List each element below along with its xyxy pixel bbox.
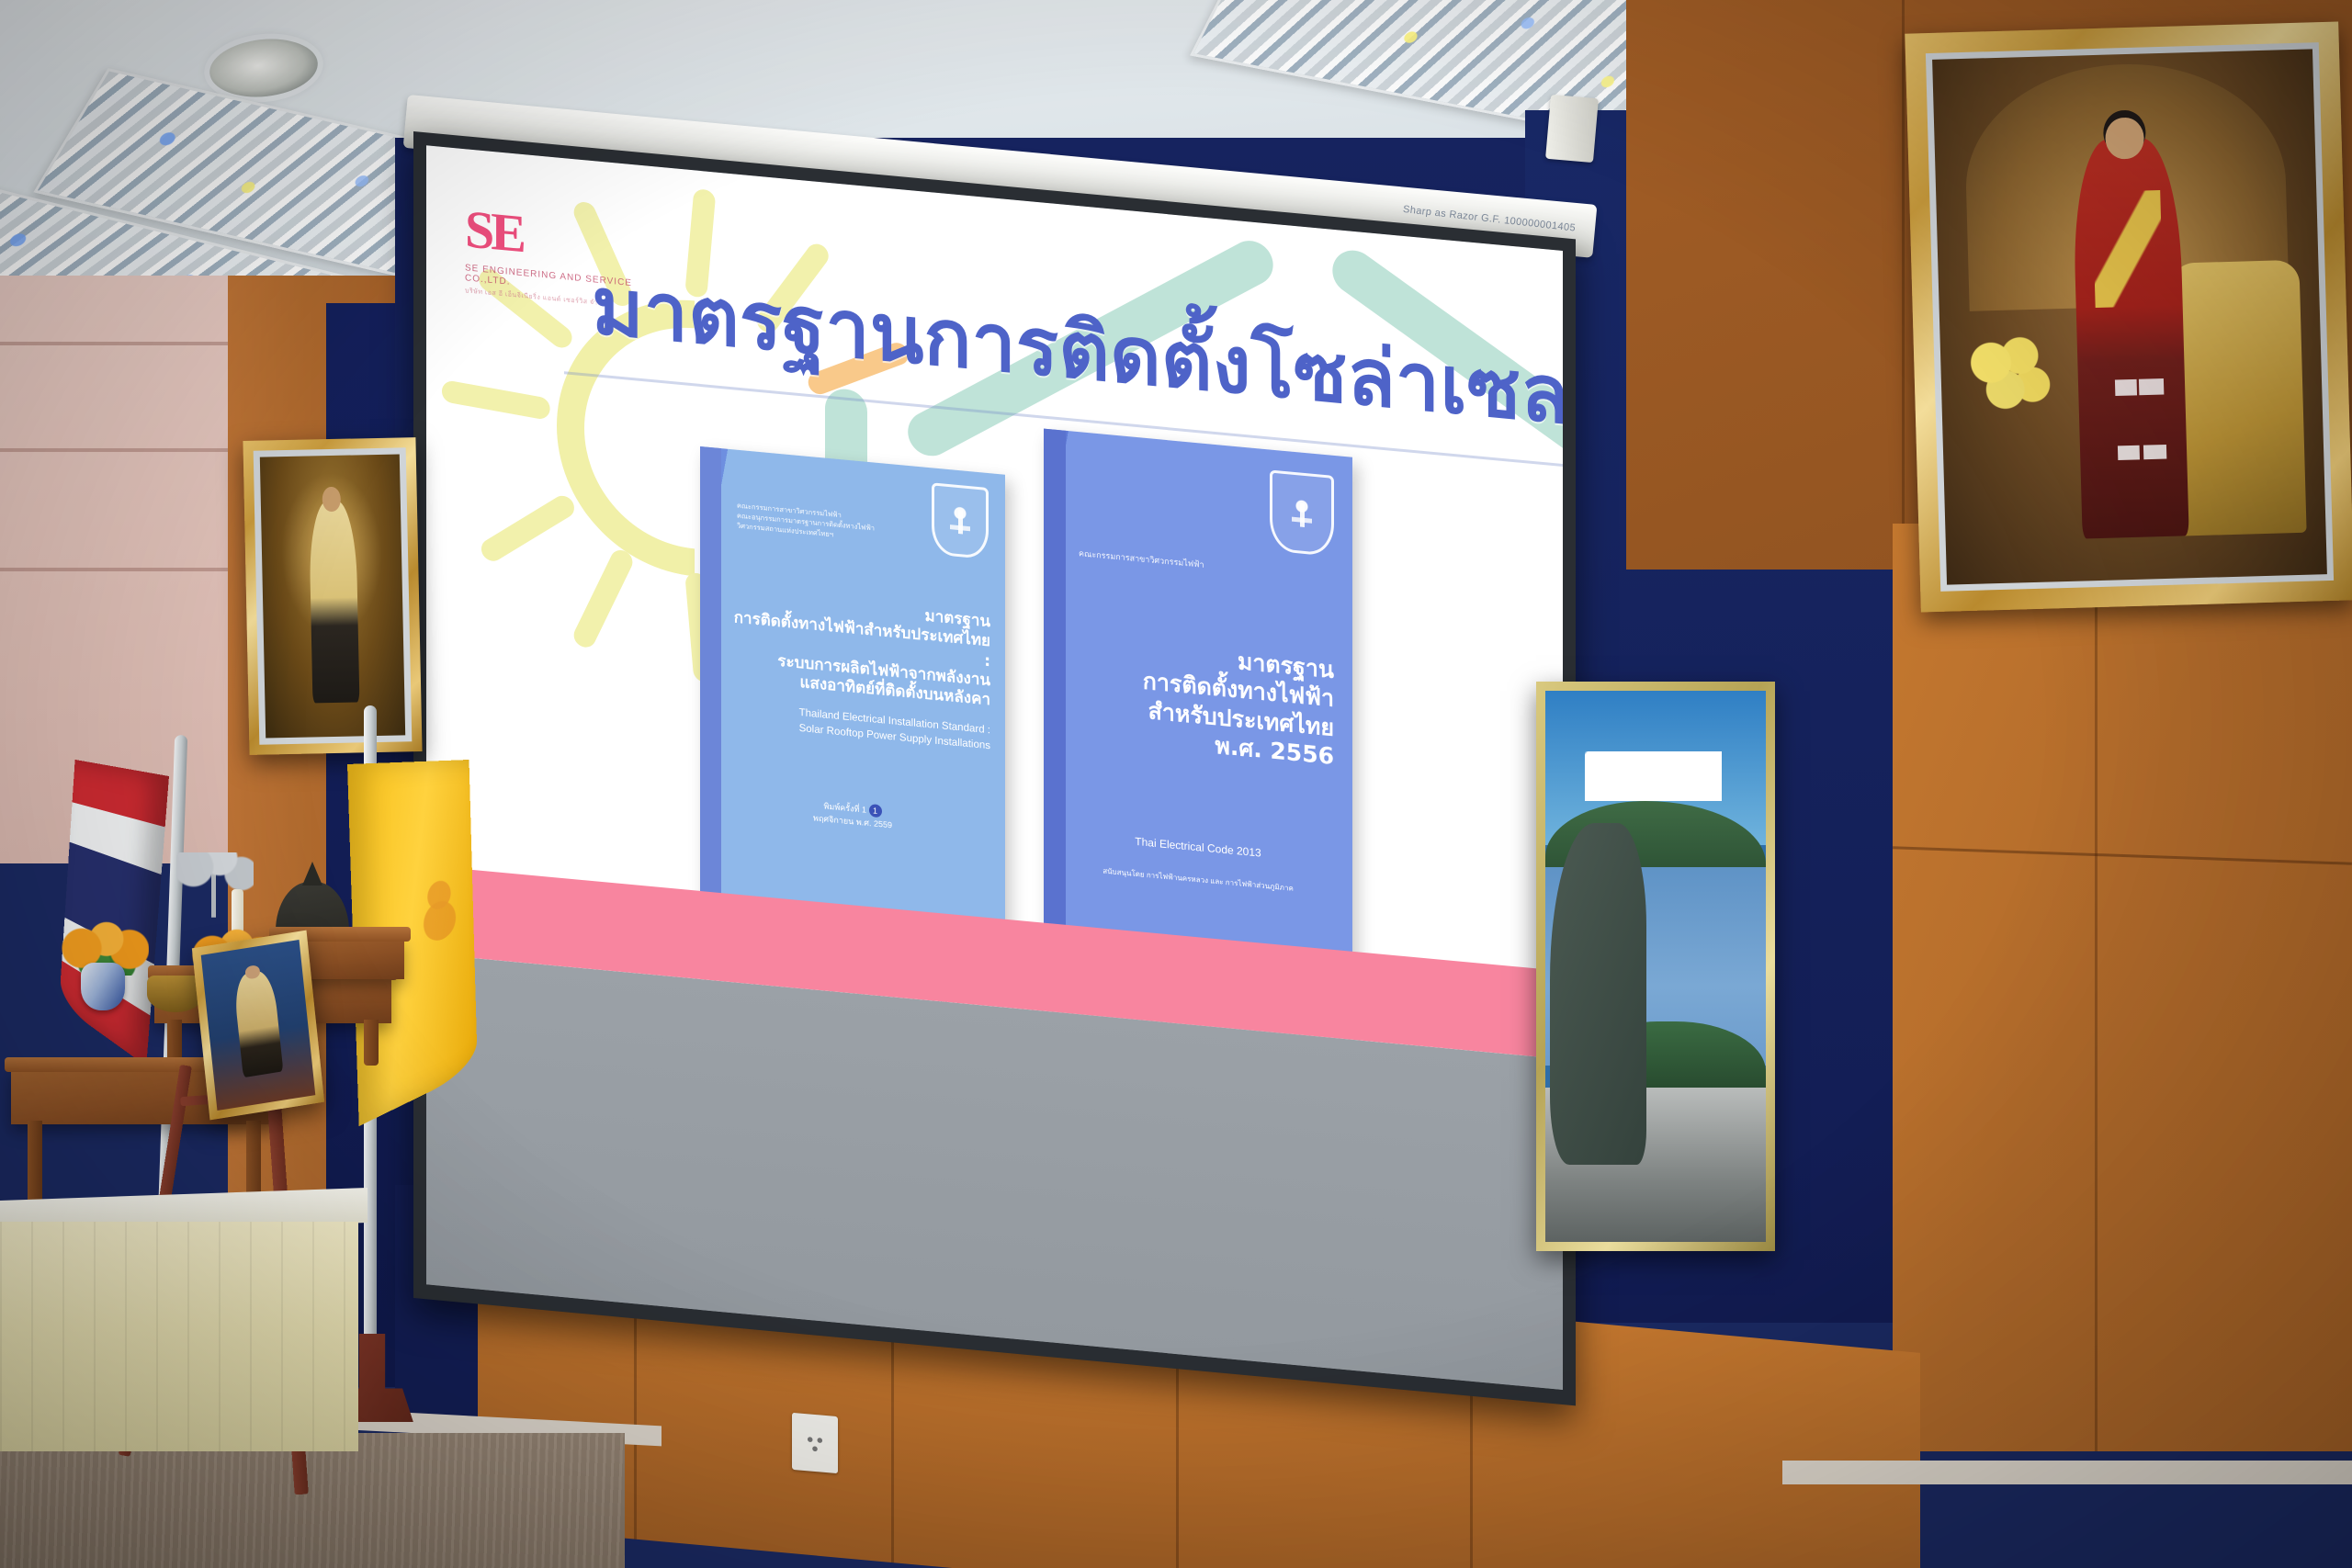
edition-badge: 1 <box>869 804 882 818</box>
framed-seascape-photo <box>1536 682 1775 1251</box>
flower-vase-left <box>81 963 125 1010</box>
royal-emblem-icon <box>416 868 461 946</box>
frame-mat <box>1926 42 2334 592</box>
book-left-edition: พิมพ์ครั้งที่ 1 1 พฤศจิกายน พ.ศ. 2559 <box>700 788 1005 843</box>
seascape-artwork <box>1545 691 1766 1242</box>
book-right-org: คณะกรรมการสาขาวิศวกรรมไฟฟ้า <box>1079 547 1290 579</box>
royal-crest-icon <box>932 482 989 559</box>
frame-mat <box>254 447 413 744</box>
projector-screen: Sharp as Razor G.F. 100000001405 <box>413 87 1571 1355</box>
glass-glare-reflection <box>2109 367 2197 548</box>
framed-portrait-queen-wall <box>1905 22 2352 613</box>
book-right-title-en: Thai Electrical Code 2013 <box>1044 826 1352 871</box>
screen-frame: SE SE ENGINEERING AND SERVICE CO.,LTD. บ… <box>413 131 1576 1405</box>
screen-surface: SE SE ENGINEERING AND SERVICE CO.,LTD. บ… <box>426 145 1563 1390</box>
presentation-slide: SE SE ENGINEERING AND SERVICE CO.,LTD. บ… <box>426 145 1563 1059</box>
royal-crest-icon <box>1270 469 1334 556</box>
baseboard-right <box>1782 1461 2352 1484</box>
room-scene: Sharp as Razor G.F. 100000001405 <box>0 0 2352 1568</box>
portrait-king-artwork <box>260 454 405 738</box>
book-spine <box>1044 429 1066 1008</box>
book-right-sponsor: สนับสนุนโดย การไฟฟ้านครหลวง และ การไฟฟ้า… <box>1044 861 1352 900</box>
table-skirt-cloth <box>0 1222 358 1451</box>
screen-mount-bracket <box>1545 95 1599 163</box>
portrait-queen-artwork <box>1932 49 2327 584</box>
framed-portrait-king-wall <box>243 437 422 755</box>
floor <box>0 1433 625 1568</box>
book-spine <box>700 446 721 963</box>
thai-national-flag <box>59 760 169 1066</box>
wall-power-outlet[interactable] <box>792 1413 838 1473</box>
wall-wood-lower-right <box>1893 524 2352 1451</box>
easel-portrait-artwork <box>201 940 316 1111</box>
book-left-title-th: มาตรฐาน การติดตั้งทางไฟฟ้าสำหรับประเทศไท… <box>724 588 990 710</box>
framed-portrait-on-easel <box>192 931 324 1121</box>
book-left-org: คณะกรรมการสาขาวิศวกรรมไฟฟ้า คณะอนุกรรมกา… <box>737 502 930 549</box>
book-right-title-th: มาตรฐาน การติดตั้งทางไฟฟ้า สำหรับประเทศไ… <box>1068 631 1334 771</box>
